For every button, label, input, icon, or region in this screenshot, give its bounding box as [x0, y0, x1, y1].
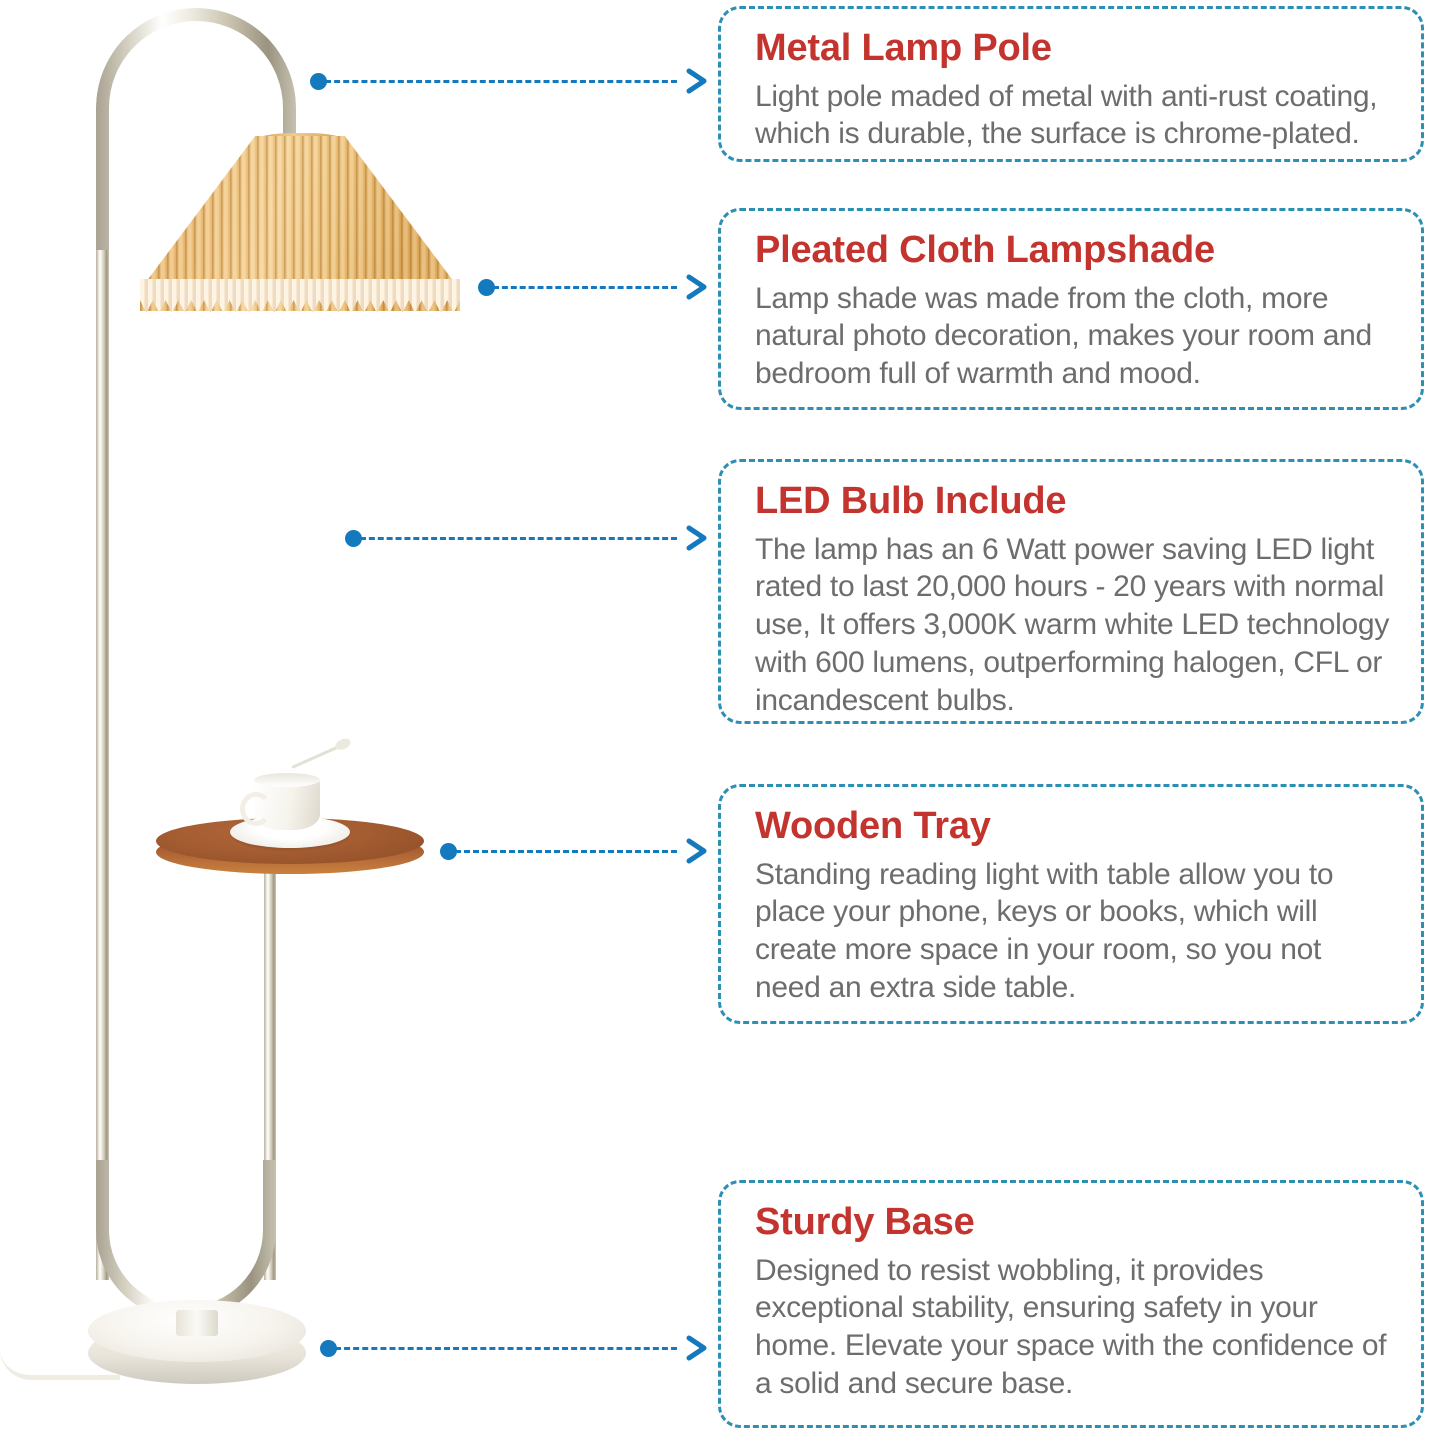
connector-wooden-tray: [440, 838, 710, 864]
connector-led-bulb-include: [345, 525, 710, 551]
callout-title: LED Bulb Include: [755, 480, 1391, 523]
callout-body: Designed to resist wobbling, it provides…: [755, 1252, 1391, 1403]
connector-dashed-line: [493, 286, 677, 289]
coffee-cup-set: [230, 770, 350, 850]
callout-body: Standing reading light with table allow …: [755, 856, 1391, 1007]
callout-body: Light pole maded of metal with anti-rust…: [755, 78, 1391, 154]
product-photo: [0, 0, 700, 1435]
callout-sturdy-base: Sturdy Base Designed to resist wobbling,…: [718, 1180, 1424, 1428]
connector-pleated-cloth-lampshade: [478, 274, 710, 300]
callout-title: Wooden Tray: [755, 805, 1391, 848]
callout-title: Sturdy Base: [755, 1201, 1391, 1244]
arrow-right-icon: [684, 68, 710, 94]
callout-metal-lamp-pole: Metal Lamp Pole Light pole maded of meta…: [718, 6, 1424, 162]
callout-led-bulb-include: LED Bulb Include The lamp has an 6 Watt …: [718, 459, 1424, 724]
arrow-right-icon: [684, 1335, 710, 1361]
spoon: [291, 743, 345, 769]
lamp-pole-left-rod: [96, 250, 109, 1280]
cup-rim: [254, 773, 320, 787]
cup-handle: [240, 792, 272, 826]
connector-dashed-line: [455, 850, 677, 853]
callout-title: Metal Lamp Pole: [755, 27, 1391, 70]
connector-dashed-line: [360, 537, 677, 540]
connector-sturdy-base: [320, 1335, 710, 1361]
arrow-right-icon: [684, 838, 710, 864]
callout-title: Pleated Cloth Lampshade: [755, 229, 1391, 272]
connector-metal-lamp-pole: [310, 68, 710, 94]
base-collar: [176, 1310, 218, 1336]
pleated-lampshade: [140, 136, 460, 311]
connector-dashed-line: [325, 80, 677, 83]
power-cord: [0, 1349, 120, 1380]
callout-body: Lamp shade was made from the cloth, more…: [755, 280, 1391, 393]
arrow-right-icon: [684, 525, 710, 551]
lamp-pole-u-bend: [96, 1160, 276, 1320]
product-infographic: Metal Lamp Pole Light pole maded of meta…: [0, 0, 1433, 1435]
callout-pleated-cloth-lampshade: Pleated Cloth Lampshade Lamp shade was m…: [718, 208, 1424, 410]
arrow-right-icon: [684, 274, 710, 300]
lamp-base-disc: [88, 1300, 306, 1396]
connector-dashed-line: [335, 1347, 677, 1350]
callout-wooden-tray: Wooden Tray Standing reading light with …: [718, 784, 1424, 1024]
callout-body: The lamp has an 6 Watt power saving LED …: [755, 531, 1391, 720]
